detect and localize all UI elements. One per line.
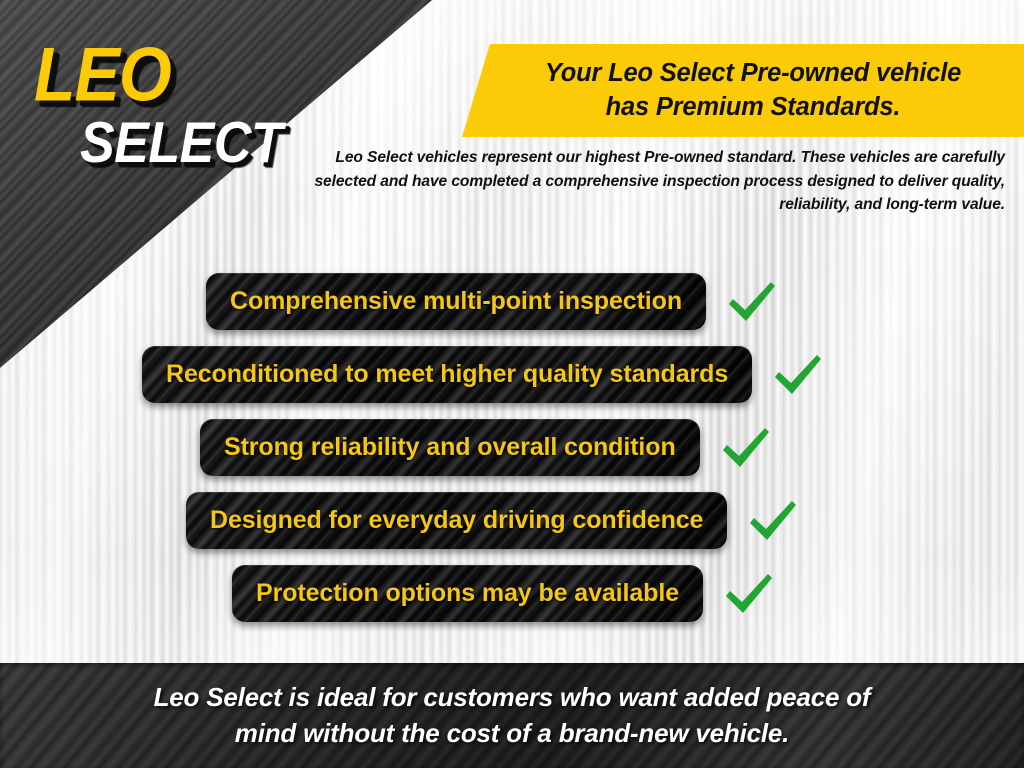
feature-pill: Strong reliability and overall condition xyxy=(200,419,700,476)
feature-row: Strong reliability and overall condition xyxy=(0,411,1024,484)
feature-pill: Protection options may be available xyxy=(232,565,703,622)
headline-text: Your Leo Select Pre-owned vehicle has Pr… xyxy=(545,57,961,124)
feature-label: Protection options may be available xyxy=(256,579,679,608)
feature-pill: Comprehensive multi-point inspection xyxy=(206,273,706,330)
feature-label: Designed for everyday driving confidence xyxy=(210,506,703,535)
feature-list: Comprehensive multi-point inspection Rec… xyxy=(0,265,1024,630)
feature-row: Reconditioned to meet higher quality sta… xyxy=(0,338,1024,411)
logo-primary-text: LEO xyxy=(34,40,304,110)
feature-row: Protection options may be available xyxy=(0,557,1024,630)
headline-banner: Your Leo Select Pre-owned vehicle has Pr… xyxy=(462,44,1024,137)
check-icon xyxy=(745,496,799,546)
footer-line-2: mind without the cost of a brand-new veh… xyxy=(235,718,789,748)
check-icon xyxy=(724,277,778,327)
intro-paragraph: Leo Select vehicles represent our highes… xyxy=(305,146,1005,217)
footer-banner: Leo Select is ideal for customers who wa… xyxy=(0,663,1024,768)
footer-line-1: Leo Select is ideal for customers who wa… xyxy=(154,682,871,712)
leo-select-poster: LEO SELECT Your Leo Select Pre-owned veh… xyxy=(0,0,1024,768)
check-icon xyxy=(721,569,775,619)
feature-label: Comprehensive multi-point inspection xyxy=(230,287,682,316)
feature-pill: Reconditioned to meet higher quality sta… xyxy=(142,346,752,403)
check-icon xyxy=(718,423,772,473)
feature-row: Designed for everyday driving confidence xyxy=(0,484,1024,557)
check-icon xyxy=(770,350,824,400)
brand-logo: LEO SELECT xyxy=(34,40,304,166)
feature-row: Comprehensive multi-point inspection xyxy=(0,265,1024,338)
logo-secondary-text: SELECT xyxy=(80,117,304,171)
footer-text: Leo Select is ideal for customers who wa… xyxy=(94,680,931,752)
headline-line-1: Your Leo Select Pre-owned vehicle xyxy=(545,59,961,87)
feature-pill: Designed for everyday driving confidence xyxy=(186,492,727,549)
feature-label: Strong reliability and overall condition xyxy=(224,433,676,462)
feature-label: Reconditioned to meet higher quality sta… xyxy=(166,360,728,389)
headline-line-2: has Premium Standards. xyxy=(606,93,901,121)
